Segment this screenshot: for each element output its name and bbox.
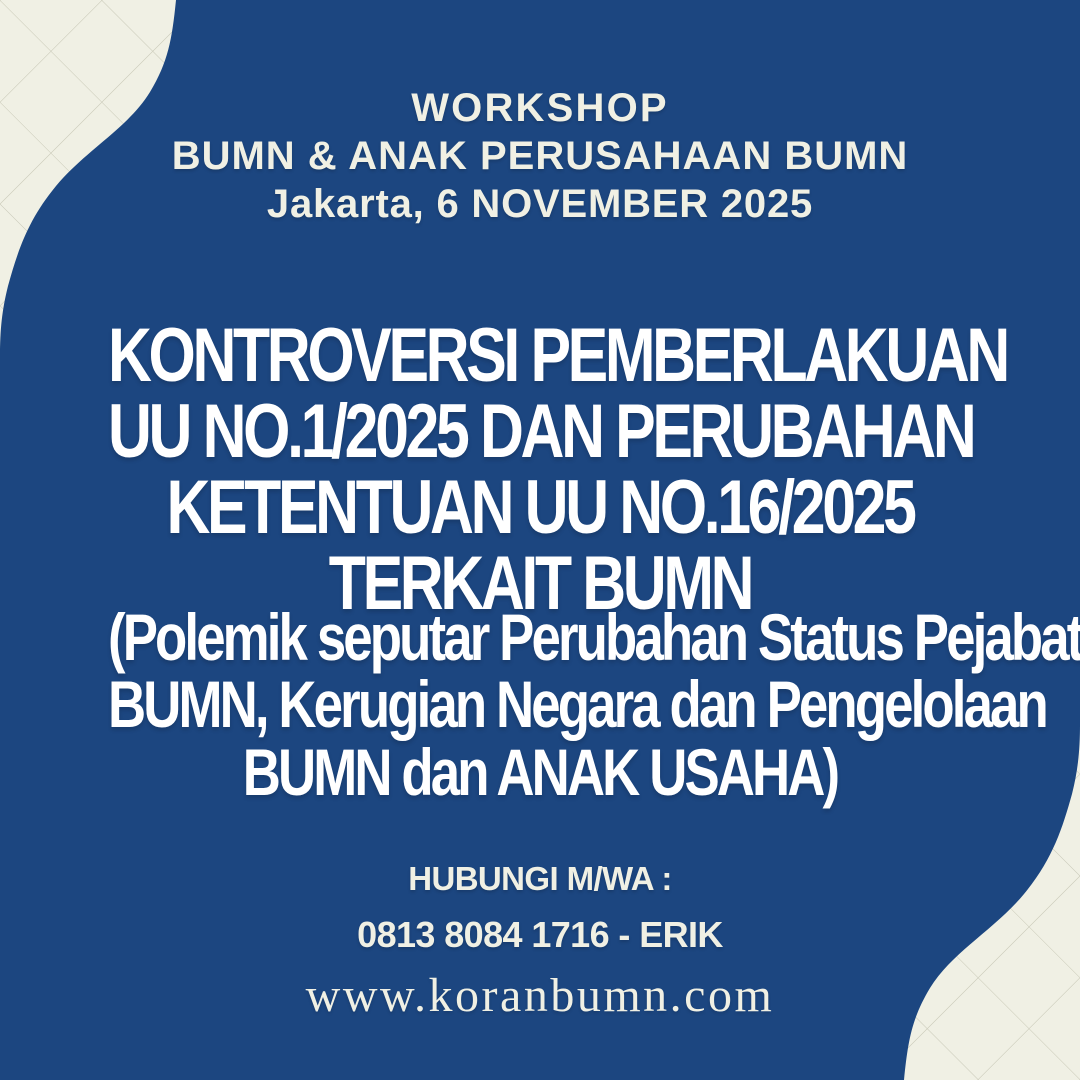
title-line-3: KETENTUAN UU NO.16/2025 [108,470,972,546]
header-organization-label: BUMN & ANAK PERUSAHAAN BUMN [0,132,1080,180]
header-workshop-label: WORKSHOP [0,84,1080,132]
poster-canvas: WORKSHOP BUMN & ANAK PERUSAHAAN BUMN Jak… [0,0,1080,1080]
event-header: WORKSHOP BUMN & ANAK PERUSAHAAN BUMN Jak… [0,84,1080,228]
subtitle-line-3: BUMN dan ANAK USAHA) [108,739,972,806]
website-url[interactable]: www.koranbumn.com [0,968,1080,1023]
contact-phone-number[interactable]: 0813 8084 1716 - ERIK [0,917,1080,953]
subtitle-line-1: (Polemik seputar Perubahan Status Pejaba… [108,604,972,671]
title-line-2: UU NO.1/2025 DAN PERUBAHAN [108,394,972,470]
main-title: KONTROVERSI PEMBERLAKUAN UU NO.1/2025 DA… [0,318,1080,622]
subtitle-line-2: BUMN, Kerugian Negara dan Pengelolaan [108,671,972,738]
contact-label: HUBUNGI M/WA : [0,862,1080,895]
header-date-location-label: Jakarta, 6 NOVEMBER 2025 [0,180,1080,228]
subtitle: (Polemik seputar Perubahan Status Pejaba… [0,604,1080,806]
contact-info: HUBUNGI M/WA : 0813 8084 1716 - ERIK [0,862,1080,953]
title-line-1: KONTROVERSI PEMBERLAKUAN [108,318,972,394]
